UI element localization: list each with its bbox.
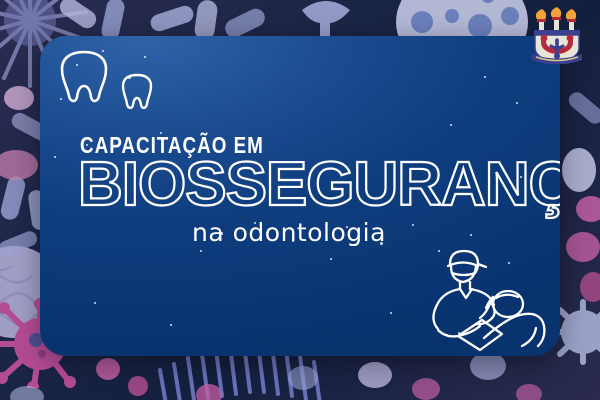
page-title: BIOSSEGURANÇA <box>78 154 560 216</box>
sparkle-dot <box>200 250 202 252</box>
cell-blob <box>96 358 120 380</box>
rod-bacteria <box>566 89 600 127</box>
dentist-treating-patient-icon <box>422 242 552 352</box>
title-card: CAPACITAÇÃO EM BIOSSEGURANÇA na odontolo… <box>40 36 560 356</box>
subtitle-text: na odontologia <box>192 220 386 245</box>
tooth-icon <box>118 70 156 112</box>
sparkle-dot <box>470 234 472 236</box>
tooth-icon <box>56 46 112 106</box>
sparkle-dot <box>450 124 452 126</box>
cell-blob <box>576 196 600 222</box>
sparkle-dot <box>144 56 146 58</box>
poster-canvas: CAPACITAÇÃO EM BIOSSEGURANÇA na odontolo… <box>0 0 600 400</box>
cell-blob <box>562 148 596 192</box>
rod-bacteria <box>56 0 99 32</box>
cell-blob <box>10 386 44 400</box>
sparkle-dot <box>94 302 96 304</box>
cell-blob <box>0 150 38 180</box>
cell-blob <box>128 376 148 396</box>
cell-blob <box>516 384 542 400</box>
sparkle-dot <box>484 76 486 78</box>
sparkle-dot <box>390 312 392 314</box>
cell-blob <box>412 378 440 400</box>
sparkle-dot <box>330 258 332 260</box>
cell-blob <box>566 232 600 262</box>
cell-blob <box>4 86 34 110</box>
rod-bacteria <box>0 174 27 221</box>
cell-blob <box>358 362 392 388</box>
sparkle-dot <box>412 224 414 226</box>
uneb-coat-of-arms <box>530 6 584 64</box>
sparkle-dot <box>516 102 518 104</box>
rod-bacteria <box>148 4 195 34</box>
sparkle-dot <box>54 156 56 158</box>
sparkle-dot <box>170 324 172 326</box>
cell-blob <box>470 352 506 380</box>
